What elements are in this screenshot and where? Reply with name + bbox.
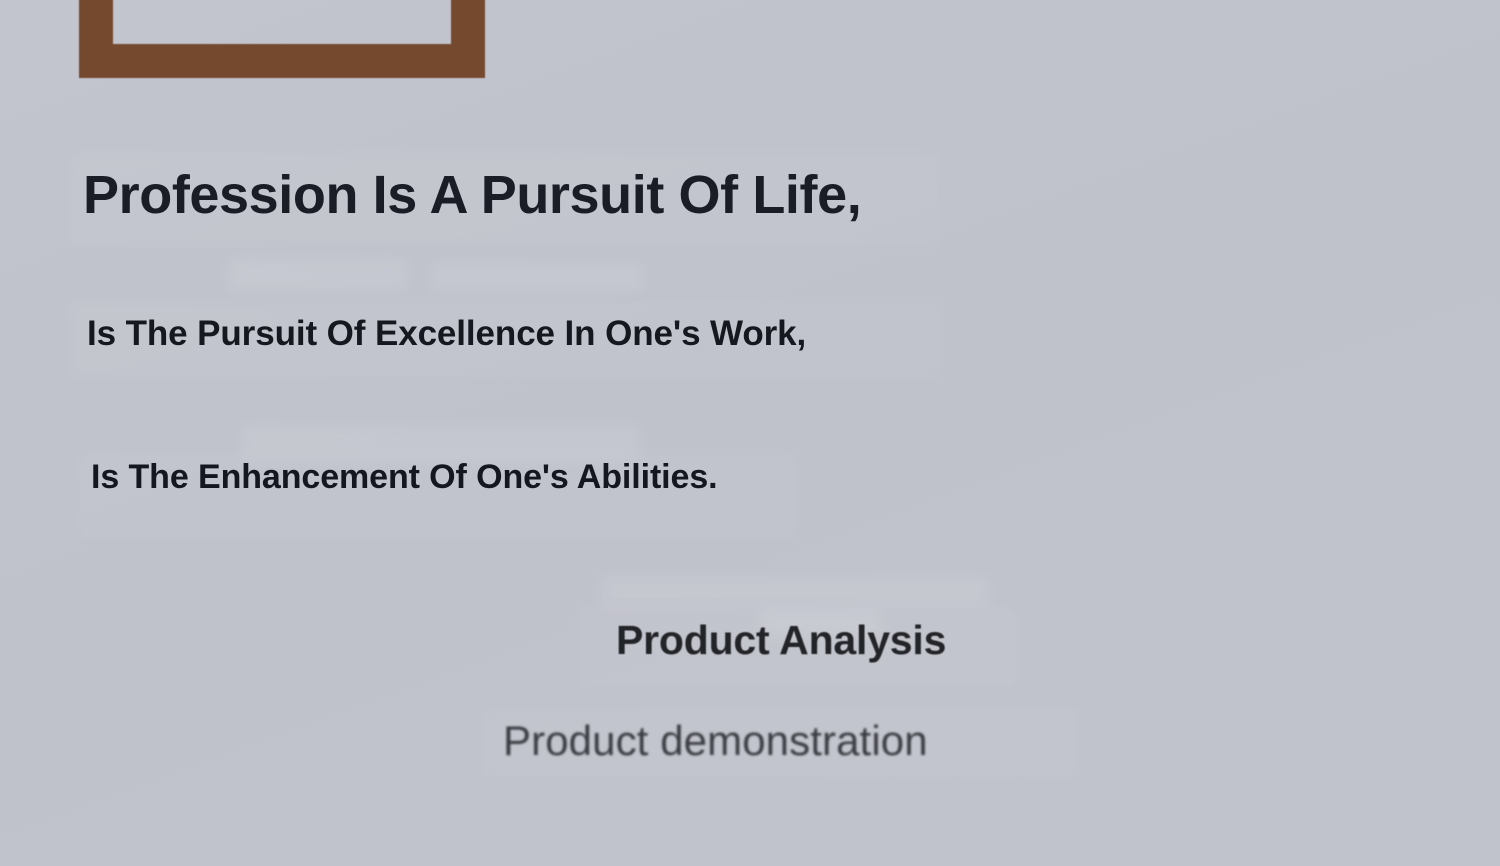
section-title: Product Analysis [616,618,946,663]
quote-line-2: Is The Pursuit Of Excellence In One's Wo… [87,315,806,354]
background-ghost-artifact [600,575,990,607]
background-ghost-artifact [430,262,645,292]
quote-line-3: Is The Enhancement Of One's Abilities. [91,461,731,495]
section-subtitle: Product demonstration [503,718,928,764]
brown-rectangular-frame [79,0,485,78]
slide-canvas: Profession Is A Pursuit Of Life, Is The … [0,0,1500,866]
background-ghost-artifact [240,424,640,460]
quote-line-1: Profession Is A Pursuit Of Life, [83,166,861,224]
background-ghost-artifact [228,258,408,292]
